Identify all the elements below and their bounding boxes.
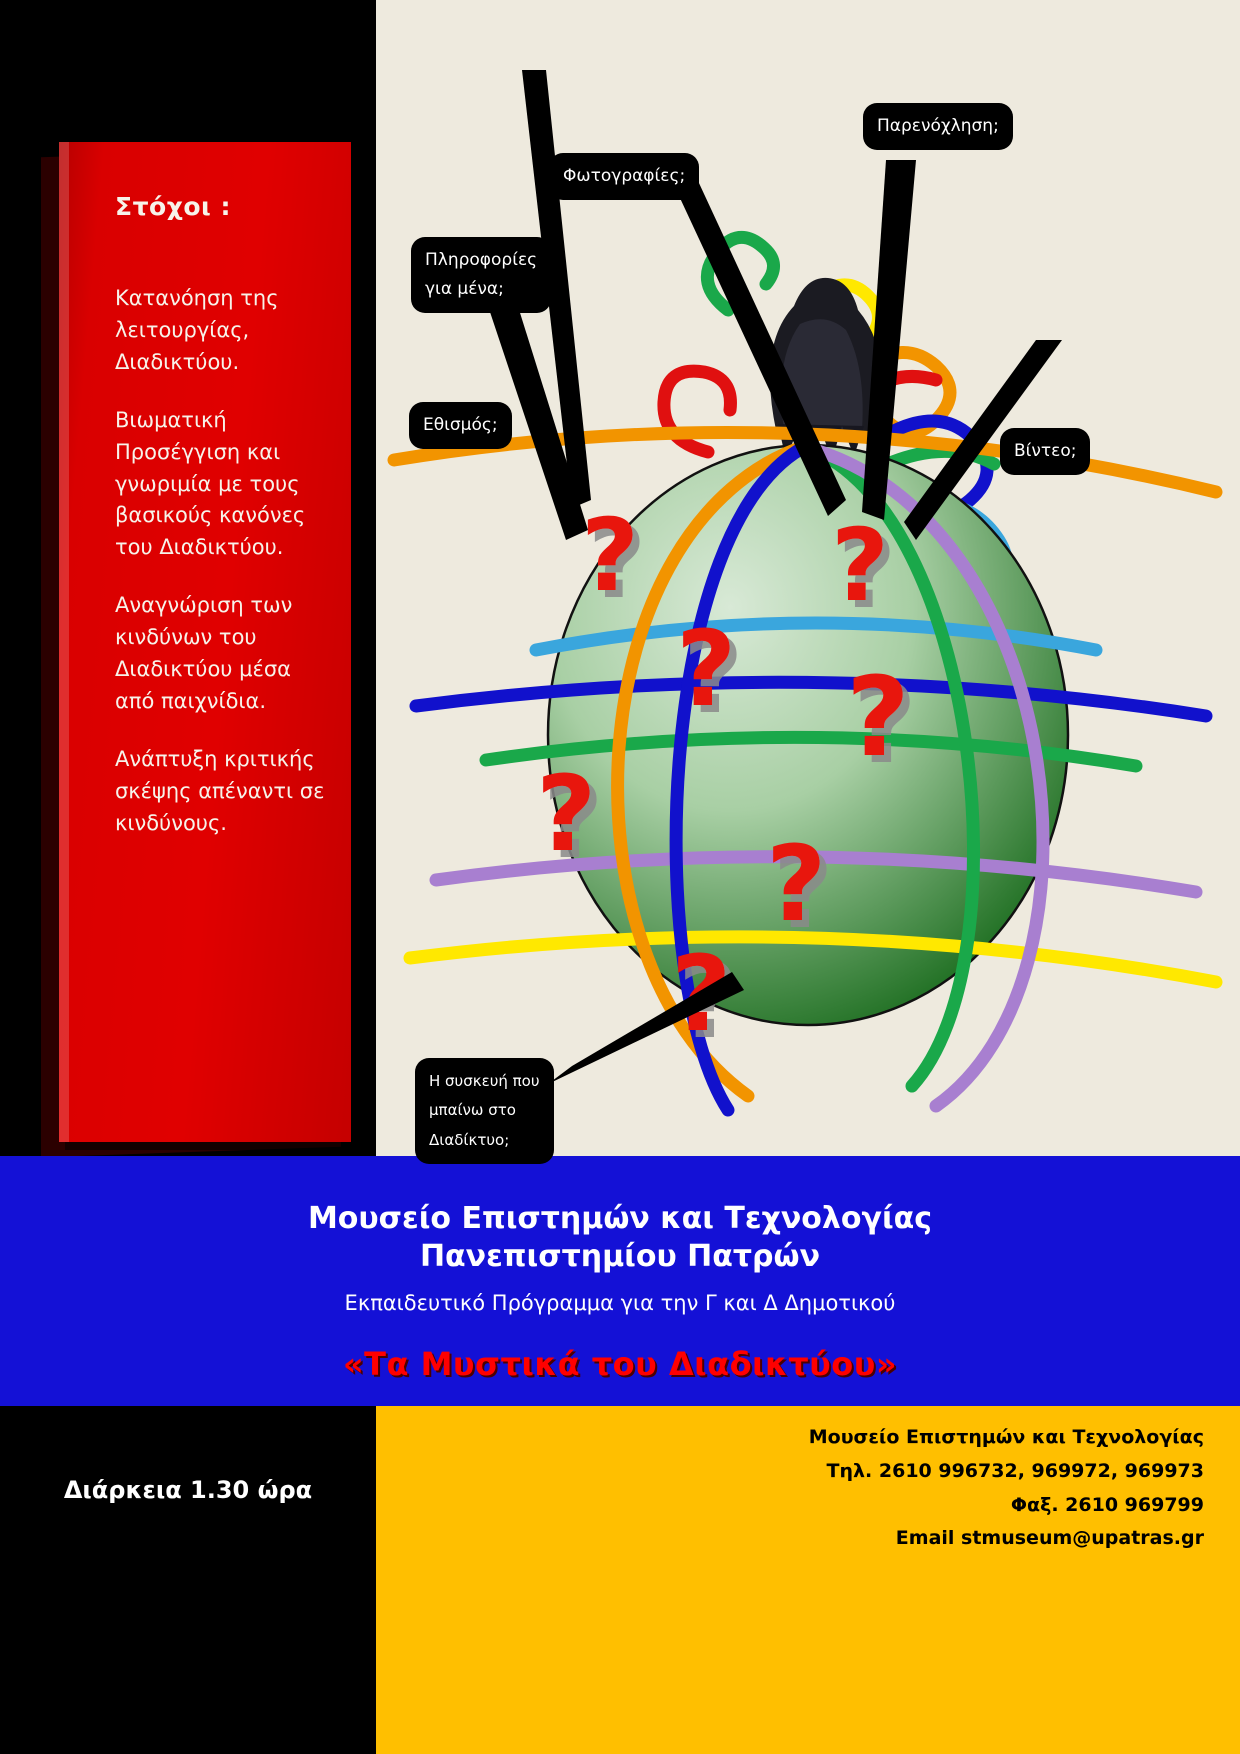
goal-item-2: Βιωματική Προσέγγιση και γνωριμία με του… xyxy=(115,405,325,565)
goal-item-4: Ανάπτυξη κριτικής σκέψης απέναντι σε κιν… xyxy=(115,744,325,840)
bubble-photos[interactable]: Φωτογραφίες; xyxy=(549,153,699,200)
contact-block: Μουσείο Επιστημών και Τεχνολογίας Τηλ. 2… xyxy=(644,1421,1204,1556)
poster-root: ? ? ? ? ? ? ? Παρενόχληση; Φωτογραφίες; … xyxy=(0,0,1240,1754)
duration-label: Διάρκεια 1.30 ώρα xyxy=(0,1476,376,1504)
footer-black-block xyxy=(0,1406,376,1754)
blue-banner: Μουσείο Επιστημών και Τεχνολογίας Πανεπι… xyxy=(0,1156,1240,1406)
organisation-name: Μουσείο Επιστημών και Τεχνολογίας Πανεπι… xyxy=(0,1156,1240,1275)
bubble-device[interactable]: Η συσκευή που μπαίνω στο Διαδίκτυο; xyxy=(415,1058,554,1164)
programme-subtitle: Εκπαιδευτικό Πρόγραμμα για την Γ και Δ Δ… xyxy=(0,1291,1240,1315)
poster-main-title: «Τα Μυστικά του Διαδικτύου» xyxy=(0,1345,1240,1383)
organisation-line-2: Πανεπιστημίου Πατρών xyxy=(0,1238,1240,1276)
organisation-line-1: Μουσείο Επιστημών και Τεχνολογίας xyxy=(0,1200,1240,1238)
bubble-harassment[interactable]: Παρενόχληση; xyxy=(863,103,1013,150)
goal-item-3: Αναγνώριση των κινδύνων του Διαδικτύου μ… xyxy=(115,590,325,718)
contact-line-1: Μουσείο Επιστημών και Τεχνολογίας xyxy=(644,1421,1204,1455)
goals-card: Στόχοι : Κατανόηση της λειτουργίας, Διαδ… xyxy=(59,142,351,1142)
bubble-addiction[interactable]: Εθισμός; xyxy=(409,402,512,449)
goals-title: Στόχοι : xyxy=(115,192,325,221)
bubble-info-about-me[interactable]: Πληροφορίες για μένα; xyxy=(411,237,551,313)
contact-email[interactable]: Email stmuseum@upatras.gr xyxy=(644,1522,1204,1556)
bubble-video[interactable]: Βίντεο; xyxy=(1000,428,1090,475)
contact-line-2: Τηλ. 2610 996732, 969972, 969973 xyxy=(644,1455,1204,1489)
goal-item-1: Κατανόηση της λειτουργίας, Διαδικτύου. xyxy=(115,283,325,379)
stage-background xyxy=(376,0,1240,1156)
contact-line-3: Φαξ. 2610 969799 xyxy=(644,1489,1204,1523)
